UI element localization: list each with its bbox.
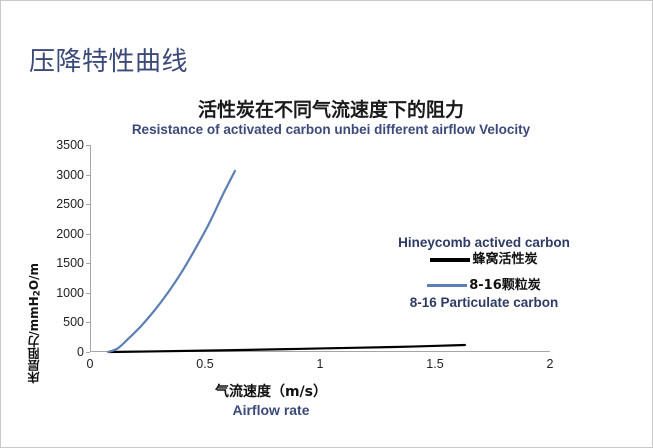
y-tick-label: 2500: [56, 197, 84, 211]
legend-swatch-blue-icon: [427, 284, 467, 287]
legend-item-particulate: 8-16颗粒炭: [369, 277, 599, 294]
x-tick-label: 0.5: [196, 357, 213, 371]
x-axis-title-english: Airflow rate: [121, 402, 421, 418]
legend-item-particulate-chinese: 8-16颗粒炭: [469, 277, 541, 294]
legend-item-honeycomb: 蜂窝活性炭: [369, 251, 599, 268]
x-tick-label: 0: [87, 357, 94, 371]
x-tick-label: 1.5: [426, 357, 443, 371]
y-tick-label: 3000: [56, 168, 84, 182]
series-line: [108, 171, 234, 352]
chart-legend: Hineycomb actived carbon 蜂窝活性炭 8-16颗粒炭 8…: [369, 234, 599, 311]
legend-item-honeycomb-english: Hineycomb actived carbon: [369, 234, 599, 251]
chart-subtitle-english: Resistance of activated carbon unbei dif…: [91, 122, 571, 137]
y-tick-label: 0: [77, 345, 84, 359]
x-tick-label: 1: [317, 357, 324, 371]
y-tick-label: 500: [63, 315, 84, 329]
legend-item-honeycomb-chinese: 蜂窝活性炭: [472, 251, 537, 268]
slide-canvas: 压降特性曲线 活性炭在不同气流速度下的阻力 Resistance of acti…: [0, 0, 653, 448]
y-tick-mark: [86, 352, 90, 353]
page-title: 压降特性曲线: [29, 45, 188, 77]
y-axis-title-sub: 2: [32, 290, 42, 296]
y-tick-label: 3500: [56, 138, 84, 152]
x-tick-label: 2: [547, 357, 554, 371]
legend-swatch-black-icon: [430, 258, 470, 262]
legend-item-particulate-english: 8-16 Particulate carbon: [369, 294, 599, 311]
y-tick-label: 1000: [56, 286, 84, 300]
chart-container: 活性炭在不同气流速度下的阻力 Resistance of activated c…: [1, 89, 653, 439]
legend-spacer: [369, 268, 599, 277]
y-tick-label: 2000: [56, 227, 84, 241]
y-axis-title: 床层阻力/mmH2O/m: [25, 263, 45, 384]
y-axis-title-post: O/m: [27, 263, 41, 290]
x-axis-title-chinese: 气流速度（m/s）: [121, 381, 421, 401]
y-axis-title-pre: 床层阻力/mmH: [27, 296, 41, 383]
y-tick-label: 1500: [56, 256, 84, 270]
chart-title-chinese: 活性炭在不同气流速度下的阻力: [121, 95, 541, 122]
series-line: [108, 345, 465, 352]
